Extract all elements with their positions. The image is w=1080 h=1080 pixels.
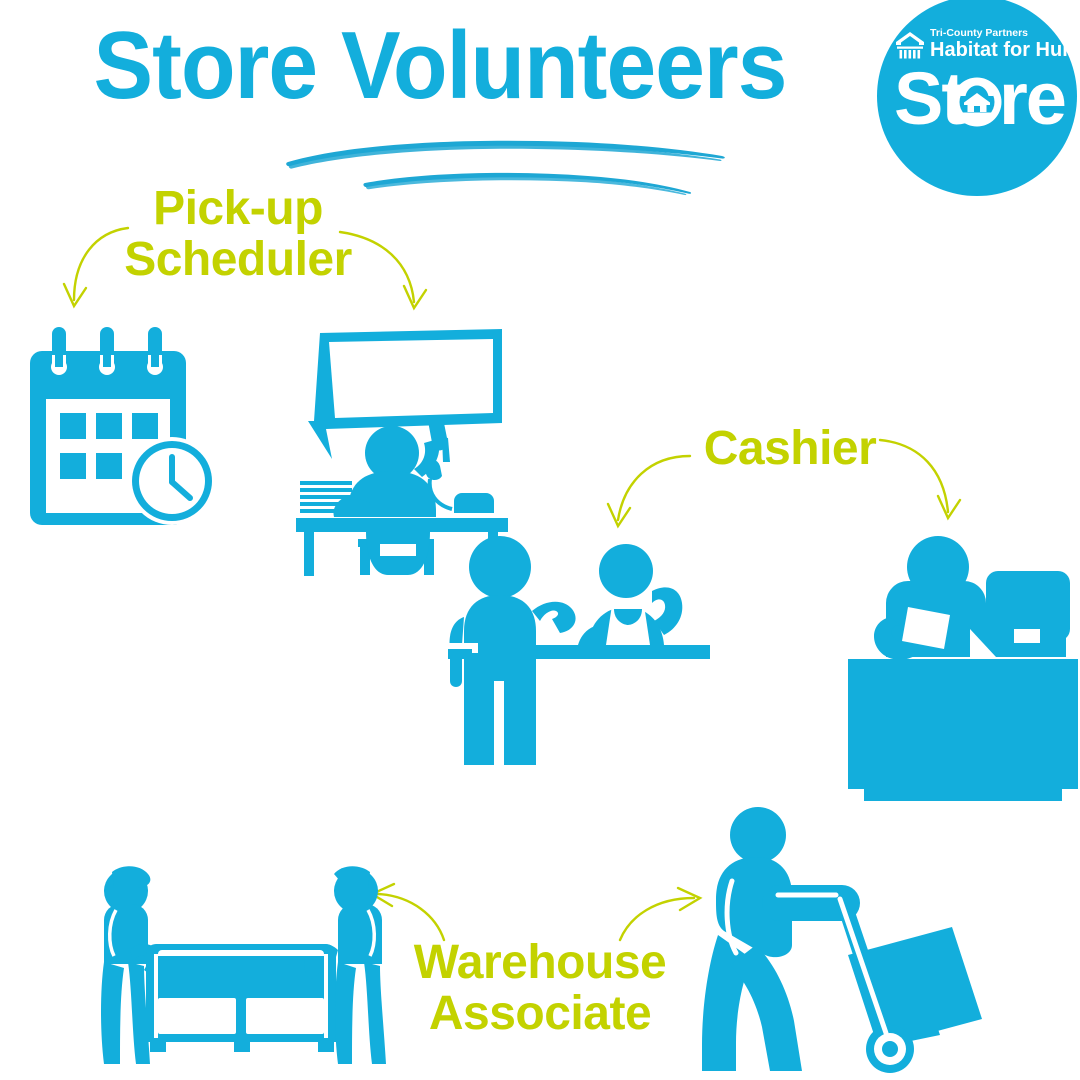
arrow-warehouse-right — [620, 888, 700, 940]
logo-wordmark-re: re — [999, 57, 1065, 140]
two-movers-sofa-icon — [86, 858, 396, 1080]
logo-tagline: Tri-County Partners — [930, 27, 1028, 39]
cash-register-icon — [846, 525, 1080, 810]
title-block: Store Volunteers — [0, 14, 880, 134]
role-label-cashier: Cashier — [630, 424, 950, 475]
hand-truck-box-icon — [700, 795, 990, 1080]
counter-service-icon — [448, 525, 710, 765]
house-in-recycle-circle-icon — [953, 78, 1002, 127]
calendar-clock-icon — [28, 325, 224, 530]
role-label-pickup-scheduler: Pick-up Scheduler — [78, 184, 398, 286]
page-title: Store Volunteers — [31, 14, 849, 118]
poster-canvas: Store Volunteers Tri-County Partners — [0, 0, 1080, 1080]
habitat-store-logo[interactable]: Tri-County Partners Habitat for Humanity… — [872, 0, 1080, 206]
role-label-warehouse-associate: Warehouse Associate — [370, 938, 710, 1040]
